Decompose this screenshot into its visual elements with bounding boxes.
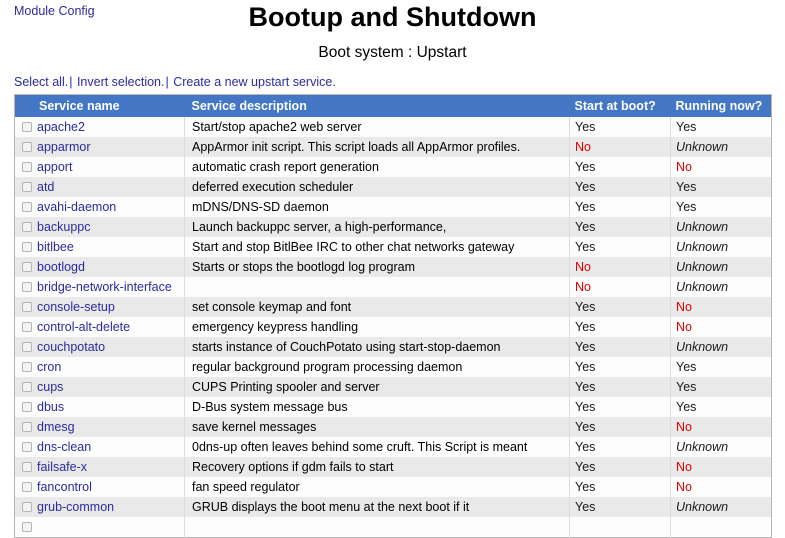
table-row: control-alt-deleteemergency keypress han… bbox=[15, 317, 772, 337]
service-name-link[interactable]: backuppc bbox=[37, 220, 91, 234]
cell-service-description: CUPS Printing spooler and server bbox=[185, 377, 570, 397]
start-at-boot-value: Yes bbox=[575, 340, 595, 354]
service-checkbox[interactable] bbox=[22, 242, 32, 252]
cell-service-name: control-alt-delete bbox=[15, 317, 185, 337]
table-row: avahi-daemonmDNS/DNS-SD daemonYesYes bbox=[15, 197, 772, 217]
start-at-boot-value: Yes bbox=[575, 400, 595, 414]
cell-start-at-boot: Yes bbox=[570, 397, 671, 417]
create-new-upstart-service-link[interactable]: Create a new upstart service. bbox=[173, 75, 336, 89]
start-at-boot-value: Yes bbox=[575, 380, 595, 394]
start-at-boot-value: Yes bbox=[575, 320, 595, 334]
start-at-boot-value: Yes bbox=[575, 480, 595, 494]
running-now-value: Unknown bbox=[676, 440, 728, 454]
service-name-link[interactable]: console-setup bbox=[37, 300, 115, 314]
service-checkbox[interactable] bbox=[22, 462, 32, 472]
service-checkbox[interactable] bbox=[22, 342, 32, 352]
cell-service-description bbox=[185, 517, 570, 538]
cell-service-description: Start and stop BitlBee IRC to other chat… bbox=[185, 237, 570, 257]
running-now-value: Unknown bbox=[676, 340, 728, 354]
service-name-link[interactable]: avahi-daemon bbox=[37, 200, 116, 214]
cell-running-now: No bbox=[671, 417, 772, 437]
cell-start-at-boot: Yes bbox=[570, 197, 671, 217]
table-row: bitlbeeStart and stop BitlBee IRC to oth… bbox=[15, 237, 772, 257]
cell-service-name bbox=[15, 517, 185, 538]
running-now-value: Yes bbox=[676, 400, 696, 414]
service-checkbox[interactable] bbox=[22, 222, 32, 232]
cell-running-now: Unknown bbox=[671, 237, 772, 257]
cell-running-now: Yes bbox=[671, 397, 772, 417]
page-root: Module Config Bootup and Shutdown Boot s… bbox=[0, 0, 785, 538]
service-name-link[interactable]: cron bbox=[37, 360, 61, 374]
page-title: Bootup and Shutdown bbox=[0, 0, 785, 33]
cell-service-description: emergency keypress handling bbox=[185, 317, 570, 337]
cell-service-description: AppArmor init script. This script loads … bbox=[185, 137, 570, 157]
service-name-link[interactable]: bitlbee bbox=[37, 240, 74, 254]
cell-running-now: Unknown bbox=[671, 217, 772, 237]
service-name-link[interactable]: apport bbox=[37, 160, 72, 174]
cell-start-at-boot: Yes bbox=[570, 497, 671, 517]
table-row: fancontrolfan speed regulatorYesNo bbox=[15, 477, 772, 497]
cell-service-name: apport bbox=[15, 157, 185, 177]
cell-service-description: deferred execution scheduler bbox=[185, 177, 570, 197]
cell-start-at-boot: No bbox=[570, 257, 671, 277]
start-at-boot-value: Yes bbox=[575, 300, 595, 314]
service-checkbox[interactable] bbox=[22, 442, 32, 452]
cell-running-now: Yes bbox=[671, 117, 772, 137]
service-checkbox[interactable] bbox=[22, 382, 32, 392]
cell-service-name: atd bbox=[15, 177, 185, 197]
service-checkbox[interactable] bbox=[22, 162, 32, 172]
service-checkbox[interactable] bbox=[22, 362, 32, 372]
cell-running-now: Yes bbox=[671, 177, 772, 197]
services-table-wrap: Service name Service description Start a… bbox=[0, 94, 785, 538]
table-row: grub-commonGRUB displays the boot menu a… bbox=[15, 497, 772, 517]
cell-service-description: Start/stop apache2 web server bbox=[185, 117, 570, 137]
cell-service-description: Launch backuppc server, a high-performan… bbox=[185, 217, 570, 237]
table-header-row: Service name Service description Start a… bbox=[15, 95, 772, 118]
boot-system-subtitle: Boot system : Upstart bbox=[0, 44, 785, 62]
cell-running-now: No bbox=[671, 157, 772, 177]
module-config-link[interactable]: Module Config bbox=[14, 4, 95, 18]
cell-service-description: starts instance of CouchPotato using sta… bbox=[185, 337, 570, 357]
cell-running-now: No bbox=[671, 297, 772, 317]
cell-running-now: No bbox=[671, 457, 772, 477]
cell-start-at-boot: Yes bbox=[570, 337, 671, 357]
table-row: dbusD-Bus system message busYesYes bbox=[15, 397, 772, 417]
running-now-value: No bbox=[676, 160, 692, 174]
service-checkbox[interactable] bbox=[22, 322, 32, 332]
cell-running-now: No bbox=[671, 477, 772, 497]
service-name-link[interactable]: atd bbox=[37, 180, 54, 194]
cell-service-name: apache2 bbox=[15, 117, 185, 137]
action-separator-1: | bbox=[68, 75, 73, 89]
service-name-link[interactable]: apparmor bbox=[37, 140, 91, 154]
cell-running-now: No bbox=[671, 317, 772, 337]
cell-service-name: console-setup bbox=[15, 297, 185, 317]
cell-service-description: regular background program processing da… bbox=[185, 357, 570, 377]
service-checkbox[interactable] bbox=[22, 302, 32, 312]
cell-start-at-boot: Yes bbox=[570, 117, 671, 137]
cell-service-name: bootlogd bbox=[15, 257, 185, 277]
running-now-value: Yes bbox=[676, 380, 696, 394]
service-checkbox[interactable] bbox=[22, 502, 32, 512]
cell-service-name: dns-clean bbox=[15, 437, 185, 457]
cell-start-at-boot: Yes bbox=[570, 297, 671, 317]
cell-start-at-boot bbox=[570, 517, 671, 538]
cell-service-name: couchpotato bbox=[15, 337, 185, 357]
cell-service-description bbox=[185, 277, 570, 297]
start-at-boot-value: Yes bbox=[575, 460, 595, 474]
service-name-link[interactable]: fancontrol bbox=[37, 480, 92, 494]
select-all-link[interactable]: Select all. bbox=[14, 75, 68, 89]
service-checkbox[interactable] bbox=[22, 422, 32, 432]
service-name-link[interactable]: apache2 bbox=[37, 120, 85, 134]
start-at-boot-value: No bbox=[575, 140, 591, 154]
running-now-value: Unknown bbox=[676, 140, 728, 154]
cell-running-now: Unknown bbox=[671, 437, 772, 457]
cell-service-name: cups bbox=[15, 377, 185, 397]
cell-running-now: Unknown bbox=[671, 277, 772, 297]
cell-service-name: bitlbee bbox=[15, 237, 185, 257]
cell-service-name: failsafe-x bbox=[15, 457, 185, 477]
start-at-boot-value: Yes bbox=[575, 120, 595, 134]
cell-service-name: backuppc bbox=[15, 217, 185, 237]
action-separator-2: | bbox=[164, 75, 169, 89]
service-name-link[interactable]: control-alt-delete bbox=[37, 320, 130, 334]
service-name-link[interactable]: bootlogd bbox=[37, 260, 85, 274]
actions-bar: Select all.| Invert selection.| Create a… bbox=[0, 75, 785, 89]
services-table-head: Service name Service description Start a… bbox=[15, 95, 772, 118]
cell-start-at-boot: Yes bbox=[570, 217, 671, 237]
running-now-value: Yes bbox=[676, 360, 696, 374]
cell-service-description: mDNS/DNS-SD daemon bbox=[185, 197, 570, 217]
cell-start-at-boot: Yes bbox=[570, 417, 671, 437]
start-at-boot-value: Yes bbox=[575, 240, 595, 254]
service-name-link[interactable]: dbus bbox=[37, 400, 64, 414]
running-now-value: No bbox=[676, 480, 692, 494]
cell-start-at-boot: Yes bbox=[570, 437, 671, 457]
running-now-value: Unknown bbox=[676, 220, 728, 234]
cell-service-description: 0dns-up often leaves behind some cruft. … bbox=[185, 437, 570, 457]
column-header-service-name[interactable]: Service name bbox=[15, 95, 185, 118]
service-name-link[interactable]: failsafe-x bbox=[37, 460, 87, 474]
service-checkbox[interactable] bbox=[22, 402, 32, 412]
cell-running-now: Yes bbox=[671, 377, 772, 397]
table-row: apparmorAppArmor init script. This scrip… bbox=[15, 137, 772, 157]
table-row: cronregular background program processin… bbox=[15, 357, 772, 377]
cell-running-now: Yes bbox=[671, 197, 772, 217]
cell-running-now bbox=[671, 517, 772, 538]
running-now-value: Unknown bbox=[676, 280, 728, 294]
table-row: backuppcLaunch backuppc server, a high-p… bbox=[15, 217, 772, 237]
service-name-link[interactable]: cups bbox=[37, 380, 63, 394]
running-now-value: Unknown bbox=[676, 500, 728, 514]
table-row: bridge-network-interfaceNoUnknown bbox=[15, 277, 772, 297]
running-now-value: Yes bbox=[676, 180, 696, 194]
start-at-boot-value: Yes bbox=[575, 200, 595, 214]
cell-start-at-boot: Yes bbox=[570, 177, 671, 197]
cell-service-description: GRUB displays the boot menu at the next … bbox=[185, 497, 570, 517]
start-at-boot-value: Yes bbox=[575, 220, 595, 234]
table-row: dmesgsave kernel messagesYesNo bbox=[15, 417, 772, 437]
running-now-value: No bbox=[676, 460, 692, 474]
cell-service-name: cron bbox=[15, 357, 185, 377]
table-row: cupsCUPS Printing spooler and serverYesY… bbox=[15, 377, 772, 397]
service-name-link[interactable]: grub-common bbox=[37, 500, 114, 514]
start-at-boot-value: No bbox=[575, 280, 591, 294]
service-name-link[interactable]: bridge-network-interface bbox=[37, 280, 172, 294]
service-checkbox[interactable] bbox=[22, 122, 32, 132]
cell-running-now: Unknown bbox=[671, 137, 772, 157]
cell-service-name: bridge-network-interface bbox=[15, 277, 185, 297]
column-header-start-at-boot[interactable]: Start at boot? bbox=[570, 95, 671, 118]
service-checkbox[interactable] bbox=[22, 262, 32, 272]
start-at-boot-value: Yes bbox=[575, 180, 595, 194]
running-now-value: Unknown bbox=[676, 260, 728, 274]
table-row: apportautomatic crash report generationY… bbox=[15, 157, 772, 177]
service-checkbox[interactable] bbox=[22, 482, 32, 492]
service-name-link[interactable]: dmesg bbox=[37, 420, 75, 434]
cell-service-name: dmesg bbox=[15, 417, 185, 437]
table-row: atddeferred execution schedulerYesYes bbox=[15, 177, 772, 197]
cell-service-description: save kernel messages bbox=[185, 417, 570, 437]
start-at-boot-value: No bbox=[575, 260, 591, 274]
table-row: dns-clean0dns-up often leaves behind som… bbox=[15, 437, 772, 457]
cell-start-at-boot: Yes bbox=[570, 317, 671, 337]
table-row: console-setupset console keymap and font… bbox=[15, 297, 772, 317]
cell-service-description: D-Bus system message bus bbox=[185, 397, 570, 417]
running-now-value: Unknown bbox=[676, 240, 728, 254]
cell-start-at-boot: Yes bbox=[570, 477, 671, 497]
cell-service-description: Starts or stops the bootlogd log program bbox=[185, 257, 570, 277]
cell-service-description: set console keymap and font bbox=[185, 297, 570, 317]
running-now-value: Yes bbox=[676, 200, 696, 214]
cell-service-name: fancontrol bbox=[15, 477, 185, 497]
column-header-service-description[interactable]: Service description bbox=[185, 95, 570, 118]
cell-start-at-boot: Yes bbox=[570, 237, 671, 257]
invert-selection-link[interactable]: Invert selection. bbox=[77, 75, 165, 89]
cell-service-description: fan speed regulator bbox=[185, 477, 570, 497]
running-now-value: Yes bbox=[676, 120, 696, 134]
table-row: apache2Start/stop apache2 web serverYesY… bbox=[15, 117, 772, 137]
cell-service-name: grub-common bbox=[15, 497, 185, 517]
service-checkbox[interactable] bbox=[22, 142, 32, 152]
cell-start-at-boot: No bbox=[570, 277, 671, 297]
table-row: couchpotatostarts instance of CouchPotat… bbox=[15, 337, 772, 357]
start-at-boot-value: Yes bbox=[575, 440, 595, 454]
service-checkbox[interactable] bbox=[22, 182, 32, 192]
cell-start-at-boot: Yes bbox=[570, 457, 671, 477]
table-row bbox=[15, 517, 772, 538]
service-name-link[interactable]: dns-clean bbox=[37, 440, 91, 454]
table-row: bootlogdStarts or stops the bootlogd log… bbox=[15, 257, 772, 277]
cell-running-now: Unknown bbox=[671, 337, 772, 357]
table-row: failsafe-xRecovery options if gdm fails … bbox=[15, 457, 772, 477]
service-name-link[interactable]: couchpotato bbox=[37, 340, 105, 354]
services-table: Service name Service description Start a… bbox=[14, 94, 772, 538]
cell-start-at-boot: Yes bbox=[570, 357, 671, 377]
running-now-value: No bbox=[676, 420, 692, 434]
service-checkbox[interactable] bbox=[22, 202, 32, 212]
column-header-running-now[interactable]: Running now? bbox=[671, 95, 772, 118]
start-at-boot-value: Yes bbox=[575, 160, 595, 174]
start-at-boot-value: Yes bbox=[575, 420, 595, 434]
service-checkbox[interactable] bbox=[22, 522, 32, 532]
cell-service-name: apparmor bbox=[15, 137, 185, 157]
cell-service-name: avahi-daemon bbox=[15, 197, 185, 217]
services-table-body: apache2Start/stop apache2 web serverYesY… bbox=[15, 117, 772, 538]
cell-running-now: Unknown bbox=[671, 497, 772, 517]
cell-running-now: Yes bbox=[671, 357, 772, 377]
cell-service-name: dbus bbox=[15, 397, 185, 417]
cell-start-at-boot: No bbox=[570, 137, 671, 157]
start-at-boot-value: Yes bbox=[575, 500, 595, 514]
cell-service-description: automatic crash report generation bbox=[185, 157, 570, 177]
running-now-value: No bbox=[676, 300, 692, 314]
running-now-value: No bbox=[676, 320, 692, 334]
cell-start-at-boot: Yes bbox=[570, 377, 671, 397]
service-checkbox[interactable] bbox=[22, 282, 32, 292]
cell-running-now: Unknown bbox=[671, 257, 772, 277]
cell-service-description: Recovery options if gdm fails to start bbox=[185, 457, 570, 477]
cell-start-at-boot: Yes bbox=[570, 157, 671, 177]
start-at-boot-value: Yes bbox=[575, 360, 595, 374]
